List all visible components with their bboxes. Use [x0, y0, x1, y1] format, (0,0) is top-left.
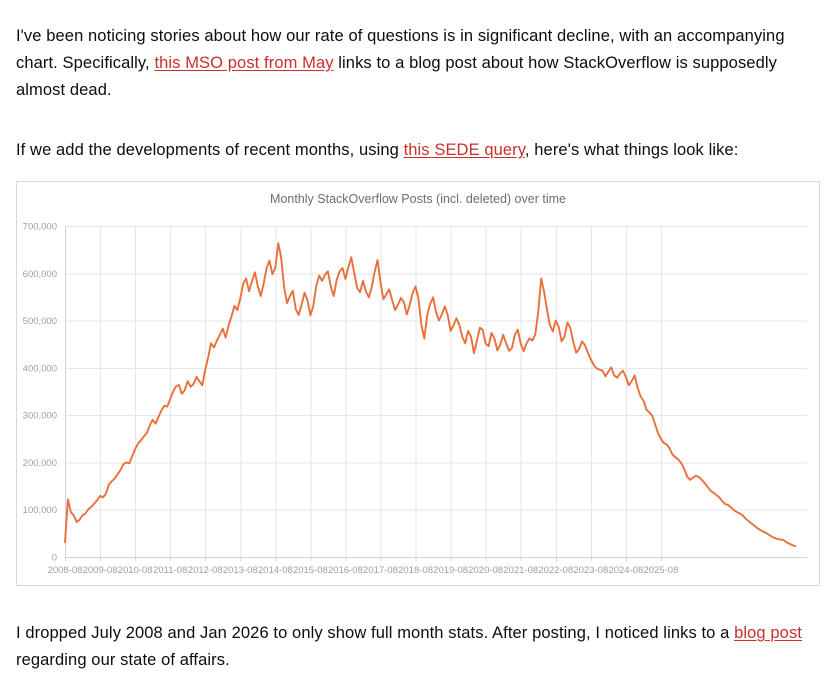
y-axis-label: 600,000 — [23, 268, 57, 279]
x-axis-label: 2011-08 — [153, 565, 187, 576]
x-axis-label: 2022-08 — [538, 565, 573, 576]
paragraph-sede: If we add the developments of recent mon… — [16, 120, 821, 164]
x-axis-label: 2024-08 — [608, 565, 643, 576]
x-axis-label: 2009-08 — [83, 565, 118, 576]
line-chart: 0100,000200,000300,000400,000500,000600,… — [17, 182, 821, 587]
y-axis-label: 500,000 — [23, 316, 57, 327]
paragraph-3-text-after: regarding our state of affairs. — [16, 651, 230, 669]
y-axis-label: 300,000 — [23, 410, 57, 421]
chart-card: Monthly StackOverflow Posts (incl. delet… — [16, 181, 820, 586]
y-axis-label: 700,000 — [23, 221, 57, 232]
x-axis-label: 2015-08 — [293, 565, 328, 576]
blog-post-link[interactable]: blog post — [734, 624, 802, 642]
paragraph-footnote: I dropped July 2008 and Jan 2026 to only… — [16, 602, 821, 674]
paragraph-intro: I've been noticing stories about how our… — [16, 17, 821, 104]
article-page: I've been noticing stories about how our… — [0, 17, 837, 655]
paragraph-3-text-before: I dropped July 2008 and Jan 2026 to only… — [16, 624, 734, 642]
x-axis-label: 2020-08 — [468, 565, 503, 576]
y-axis-label: 400,000 — [23, 363, 57, 374]
sede-query-link[interactable]: this SEDE query — [404, 141, 525, 159]
x-axis-label: 2017-08 — [363, 565, 398, 576]
x-axis-label: 2014-08 — [258, 565, 293, 576]
x-axis-label: 2021-08 — [503, 565, 538, 576]
x-axis-label: 2012-08 — [188, 565, 223, 576]
paragraph-2-text-before: If we add the developments of recent mon… — [16, 141, 404, 159]
x-axis-label: 2019-08 — [433, 565, 468, 576]
x-axis-label: 2016-08 — [328, 565, 363, 576]
x-axis-label: 2010-08 — [118, 565, 153, 576]
series-line-monthly-posts — [65, 243, 795, 546]
y-axis-label: 100,000 — [23, 505, 57, 516]
x-axis-label: 2023-08 — [573, 565, 608, 576]
mso-post-link[interactable]: this MSO post from May — [154, 54, 333, 72]
x-axis-label: 2025-08 — [643, 565, 678, 576]
x-axis-label: 2018-08 — [398, 565, 433, 576]
y-axis-label: 200,000 — [23, 457, 57, 468]
y-axis-label: 0 — [52, 552, 57, 563]
paragraph-2-text-after: , here's what things look like: — [525, 141, 739, 159]
x-axis-label: 2008-08 — [48, 565, 83, 576]
x-axis-label: 2013-08 — [223, 565, 258, 576]
